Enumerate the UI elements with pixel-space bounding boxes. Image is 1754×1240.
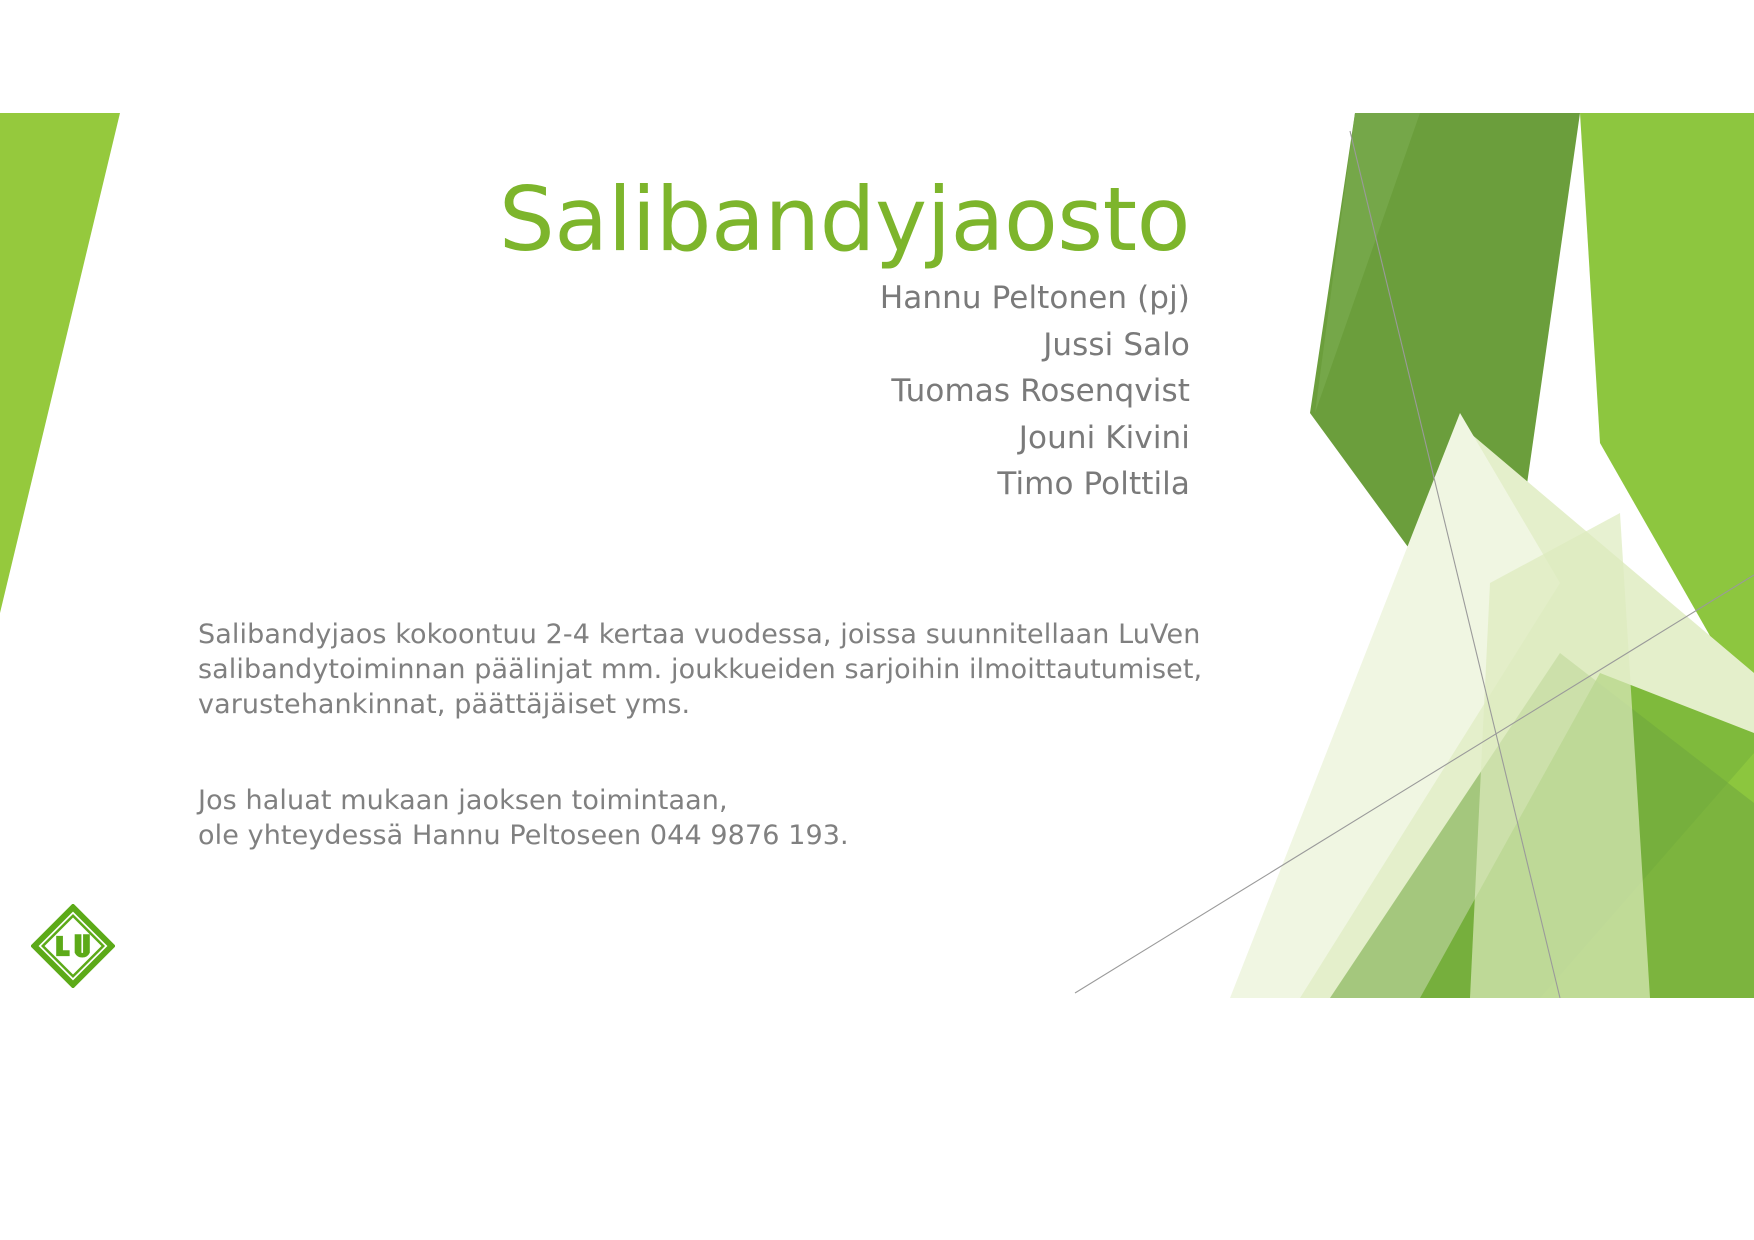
very-pale-green-band	[1230, 413, 1560, 998]
list-item: Hannu Peltonen (pj)	[400, 275, 1190, 322]
dark-green-sliver	[1315, 113, 1420, 413]
slide-canvas: Salibandyjaosto Hannu Peltonen (pj) Juss…	[0, 113, 1754, 998]
slide-root: Salibandyjaosto Hannu Peltonen (pj) Juss…	[0, 0, 1754, 1240]
body-line: Jos haluat mukaan jaoksen toimintaan,	[198, 783, 1158, 818]
body-paragraph-1: Salibandyjaos kokoontuu 2-4 kertaa vuode…	[198, 617, 1158, 722]
list-item: Jouni Kivini	[400, 415, 1190, 462]
body-line: salibandytoiminnan päälinjat mm. joukkue…	[198, 652, 1158, 687]
pale-green-band	[1290, 433, 1754, 998]
body-line: ole yhteydessä Hannu Peltoseen 044 9876 …	[198, 818, 1158, 853]
body-paragraph-2: Jos haluat mukaan jaoksen toimintaan, ol…	[198, 783, 1158, 853]
list-item: Timo Polttila	[400, 461, 1190, 508]
mid-green-lower-shape	[1420, 673, 1754, 998]
diamond-outline-icon	[34, 907, 111, 984]
body-line: varustehankinnat, päättäjäiset yms.	[198, 687, 1158, 722]
hairline-diagonal-1	[1350, 131, 1560, 998]
body-line: Salibandyjaos kokoontuu 2-4 kertaa vuode…	[198, 617, 1158, 652]
dark-green-shape	[1310, 113, 1580, 673]
page-title: Salibandyjaosto	[300, 173, 1190, 266]
left-wedge-shape	[0, 113, 120, 613]
dark-green-bottom-overlay	[1330, 653, 1754, 998]
bright-green-bottom-wedge	[1540, 753, 1754, 998]
lu-letters-icon	[56, 934, 90, 957]
bright-green-column	[1580, 113, 1754, 713]
list-item: Jussi Salo	[400, 322, 1190, 369]
lu-diamond-logo	[31, 904, 115, 988]
member-list: Hannu Peltonen (pj) Jussi Salo Tuomas Ro…	[400, 275, 1190, 508]
list-item: Tuomas Rosenqvist	[400, 368, 1190, 415]
pale-green-upper-overlay	[1470, 513, 1650, 998]
